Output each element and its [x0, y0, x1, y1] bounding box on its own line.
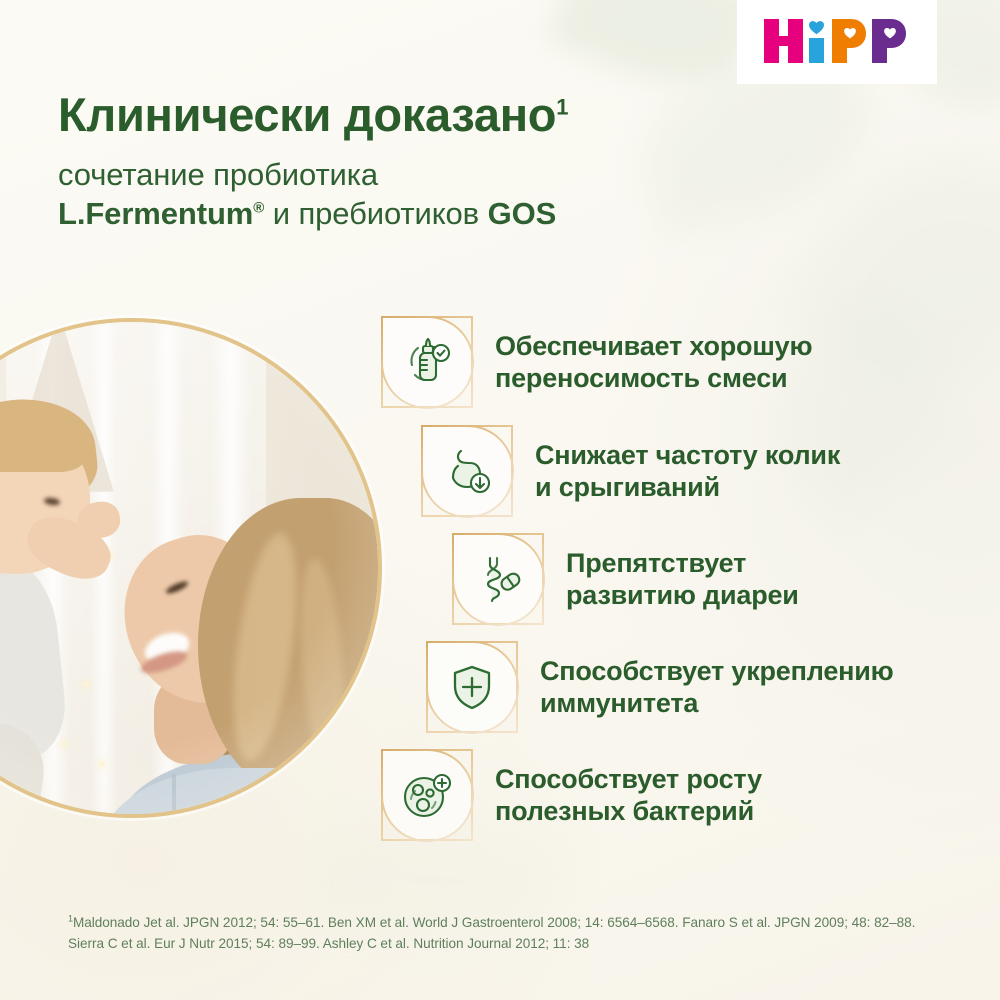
bacteria-plus-icon: [398, 766, 456, 824]
benefit-badge: [381, 316, 473, 408]
registered-mark: ®: [253, 199, 264, 216]
hero-photo: [0, 318, 382, 818]
benefit-label: Препятствует развитию диареи: [566, 547, 799, 612]
benefit-label: Снижает частоту колик и срыгиваний: [535, 439, 840, 504]
subtitle-mid: и пребиотиков: [264, 196, 487, 231]
hipp-logo[interactable]: [737, 0, 937, 84]
benefit-label: Способствует укреплению иммунитета: [540, 655, 894, 720]
benefit-item-diarrhea[interactable]: Препятствует развитию диареи: [452, 533, 799, 625]
benefit-item-bacteria[interactable]: Способствует росту полезных бактерий: [381, 749, 762, 841]
benefit-item-tolerance[interactable]: Обеспечивает хорошую переносимость смеси: [381, 316, 812, 408]
benefit-badge: [421, 425, 513, 517]
page-title-text: Клинически доказано: [58, 88, 556, 141]
benefit-badge: [426, 641, 518, 733]
headline-block: Клинически доказано1 сочетание пробиотик…: [58, 90, 758, 233]
page-title-superscript: 1: [556, 94, 568, 119]
photo-vignette: [0, 322, 378, 814]
hipp-logo-mark: [762, 16, 912, 68]
benefit-badge: [381, 749, 473, 841]
benefit-label: Способствует росту полезных бактерий: [495, 763, 762, 828]
benefit-label: Обеспечивает хорошую переносимость смеси: [495, 330, 812, 395]
shield-plus-icon: [443, 658, 501, 716]
subtitle-line-1: сочетание пробиотика: [58, 157, 378, 192]
benefit-badge: [452, 533, 544, 625]
subtitle-strong-fermentum: L.Fermentum: [58, 196, 253, 231]
footnote-text: Maldonado Jet al. JPGN 2012; 54: 55–61. …: [68, 915, 915, 951]
benefit-item-immunity[interactable]: Способствует укреплению иммунитета: [426, 641, 894, 733]
stomach-down-arrow-icon: [438, 442, 496, 500]
intestine-pill-icon: [469, 550, 527, 608]
footnote: 1Maldonado Jet al. JPGN 2012; 54: 55–61.…: [68, 912, 948, 954]
page-subtitle: сочетание пробиотика L.Fermentum® и преб…: [58, 156, 758, 234]
benefit-item-colic[interactable]: Снижает частоту колик и срыгиваний: [421, 425, 840, 517]
page-title: Клинически доказано1: [58, 90, 758, 141]
hero-photo-image: [0, 322, 378, 814]
subtitle-strong-gos: GOS: [488, 196, 557, 231]
baby-bottle-check-icon: [398, 333, 456, 391]
